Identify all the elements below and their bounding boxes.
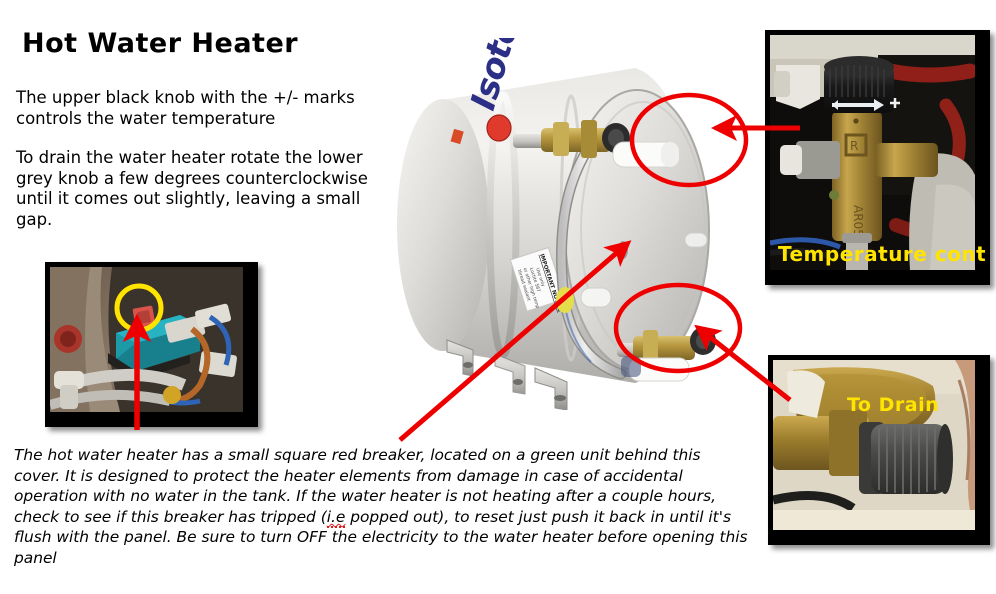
instruction-paragraph-drain: To drain the water heater rotate the low…	[16, 148, 381, 230]
photo-breaker-panel-image	[50, 267, 253, 422]
photo-caption-drain: To Drain	[847, 394, 939, 416]
photo-breaker-panel[interactable]	[45, 262, 258, 427]
photo-caption-temperature: Temperature control	[778, 242, 990, 266]
svg-text:AR05: AR05	[851, 205, 865, 237]
breaker-explanation-note: The hot water heater has a small square …	[14, 445, 749, 569]
photo-temperature-control[interactable]: R AR05	[765, 30, 990, 285]
slide-canvas: Hot Water Heater The upper black knob wi…	[0, 0, 996, 594]
page-title: Hot Water Heater	[22, 28, 298, 59]
water-heater-photo: Isote IMPORTANT NOTICE Use only Loctite …	[385, 38, 765, 410]
svg-text:R: R	[850, 139, 858, 153]
instruction-paragraph-temperature: The upper black knob with the +/- marks …	[16, 88, 416, 129]
photo-to-drain-image	[773, 360, 985, 540]
note-spellcheck-word: i.e	[327, 508, 346, 528]
photo-to-drain[interactable]: To Drain	[768, 355, 990, 545]
